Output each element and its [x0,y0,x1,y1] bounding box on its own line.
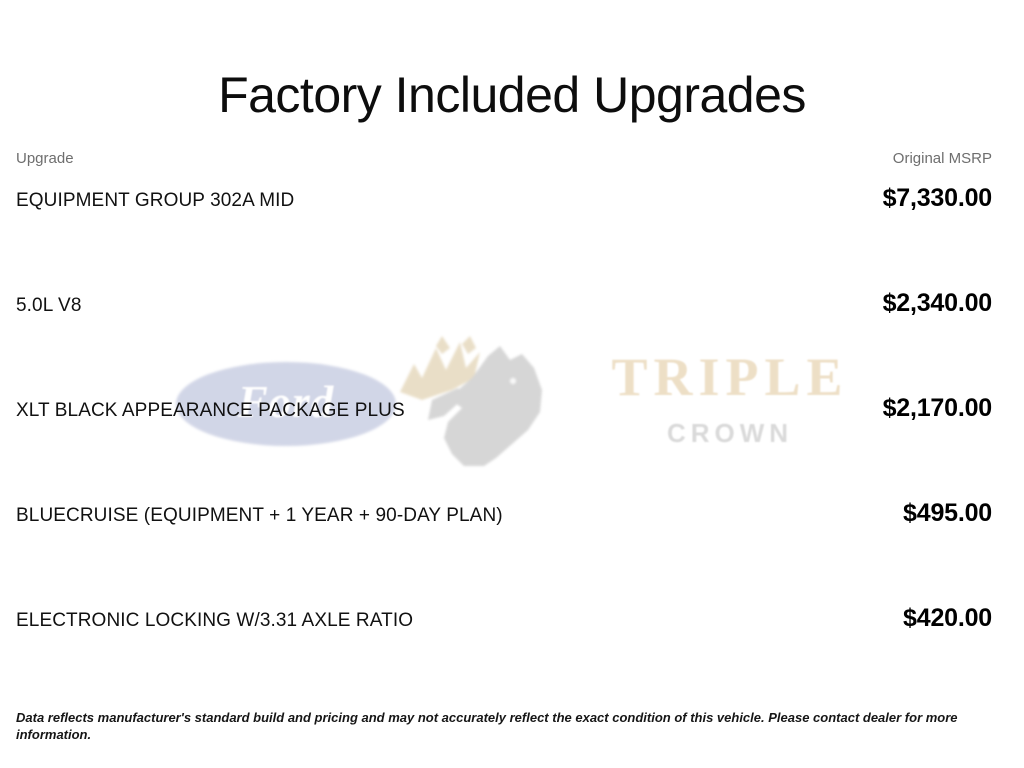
upgrade-msrp: $2,170.00 [883,394,992,423]
upgrades-page: Factory Included Upgrades Ford TRIPLE CR… [0,0,1024,768]
upgrade-msrp: $495.00 [903,499,992,528]
table-row: EQUIPMENT GROUP 302A MID $7,330.00 [16,184,992,289]
upgrade-msrp: $7,330.00 [883,184,992,213]
table-row: BLUECRUISE (EQUIPMENT + 1 YEAR + 90-DAY … [16,499,992,604]
upgrade-msrp: $2,340.00 [883,289,992,318]
upgrade-name: EQUIPMENT GROUP 302A MID [16,190,294,212]
column-header-upgrade: Upgrade [16,150,74,167]
upgrades-table: Upgrade Original MSRP EQUIPMENT GROUP 30… [16,150,992,709]
table-row: 5.0L V8 $2,340.00 [16,289,992,394]
upgrade-name: BLUECRUISE (EQUIPMENT + 1 YEAR + 90-DAY … [16,505,503,527]
upgrade-name: ELECTRONIC LOCKING W/3.31 AXLE RATIO [16,610,413,632]
table-header-row: Upgrade Original MSRP [16,150,992,184]
upgrade-name: 5.0L V8 [16,295,82,317]
disclaimer-text: Data reflects manufacturer's standard bu… [16,710,992,744]
page-title: Factory Included Upgrades [0,68,1024,123]
table-row: XLT BLACK APPEARANCE PACKAGE PLUS $2,170… [16,394,992,499]
table-row: ELECTRONIC LOCKING W/3.31 AXLE RATIO $42… [16,604,992,709]
column-header-original-msrp: Original MSRP [893,150,992,167]
upgrade-msrp: $420.00 [903,604,992,633]
upgrade-name: XLT BLACK APPEARANCE PACKAGE PLUS [16,400,405,422]
